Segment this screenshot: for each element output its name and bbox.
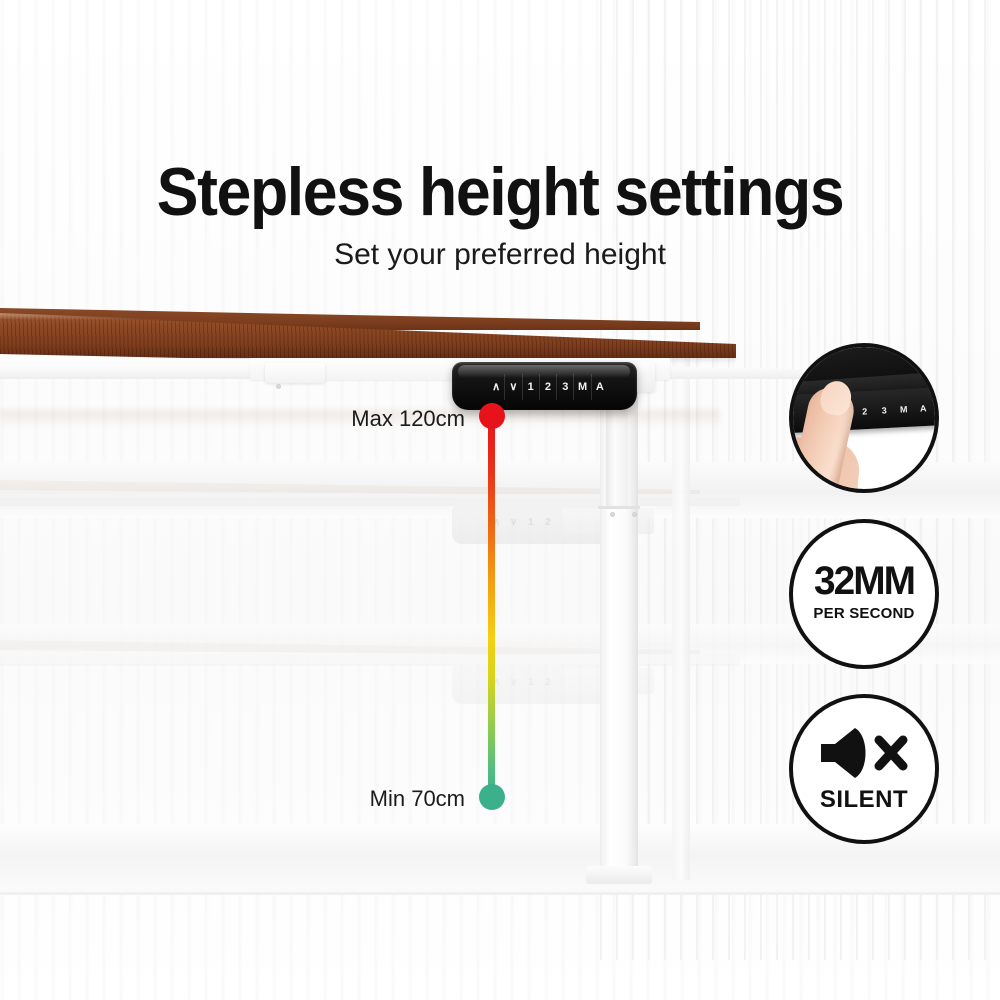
ghost-key: 2 (539, 672, 556, 694)
badge-key: 2 (854, 400, 875, 423)
height-min-marker-dot (479, 784, 505, 810)
badge-key: M (893, 398, 914, 421)
badge-speed-value: 32MM (795, 561, 933, 601)
height-max-label: Max 120cm (220, 406, 465, 432)
control-key-up-icon[interactable]: ∧ (488, 374, 504, 400)
control-key-preset-2[interactable]: 2 (539, 374, 556, 400)
badge-speed: 32MM PER SECOND (789, 519, 939, 669)
control-key-preset-3[interactable]: 3 (556, 374, 573, 400)
desk-frame-bracket-left (265, 363, 325, 383)
desk-leg-foot (586, 866, 652, 884)
height-max-marker-dot (479, 403, 505, 429)
page-title: Stepless height settings (40, 158, 960, 226)
desk-control-panel[interactable]: ∧ ∨ 1 2 3 M A (452, 362, 637, 410)
badge-silent-label: SILENT (793, 788, 935, 812)
ghost-key: 1 (522, 672, 539, 694)
frame-screw (610, 512, 615, 517)
product-feature-graphic: Stepless height settings Set your prefer… (0, 0, 1000, 1000)
badge-key: A (913, 397, 934, 420)
frame-screw (632, 512, 637, 517)
desk-leg-seam (598, 506, 640, 509)
desk-top-assembly (0, 300, 760, 410)
badge-control-keys: 2 3 M A (854, 397, 933, 423)
control-key-down-icon[interactable]: ∨ (504, 374, 521, 400)
control-key-preset-1[interactable]: 1 (522, 374, 539, 400)
frame-screw (276, 384, 281, 389)
height-range-gradient-bar (488, 414, 495, 800)
badge-silent: SILENT (789, 694, 939, 844)
ghost-key: ∨ (505, 672, 522, 694)
ghost-key: 2 (539, 512, 556, 534)
muted-speaker-icon (817, 726, 911, 780)
ghost-key: 1 (522, 512, 539, 534)
ghost-key: ∨ (505, 512, 522, 534)
badge-finger-press: 2 3 M A (789, 343, 939, 493)
control-panel-keys[interactable]: ∧ ∨ 1 2 3 M A (488, 374, 608, 400)
height-min-label: Min 70cm (220, 786, 465, 812)
floor-line (0, 892, 1000, 895)
control-key-auto[interactable]: A (591, 374, 608, 400)
badge-key: 3 (874, 399, 895, 422)
badge-speed-unit: PER SECOND (793, 606, 935, 621)
control-key-memory[interactable]: M (573, 374, 590, 400)
page-subtitle: Set your preferred height (0, 240, 1000, 270)
